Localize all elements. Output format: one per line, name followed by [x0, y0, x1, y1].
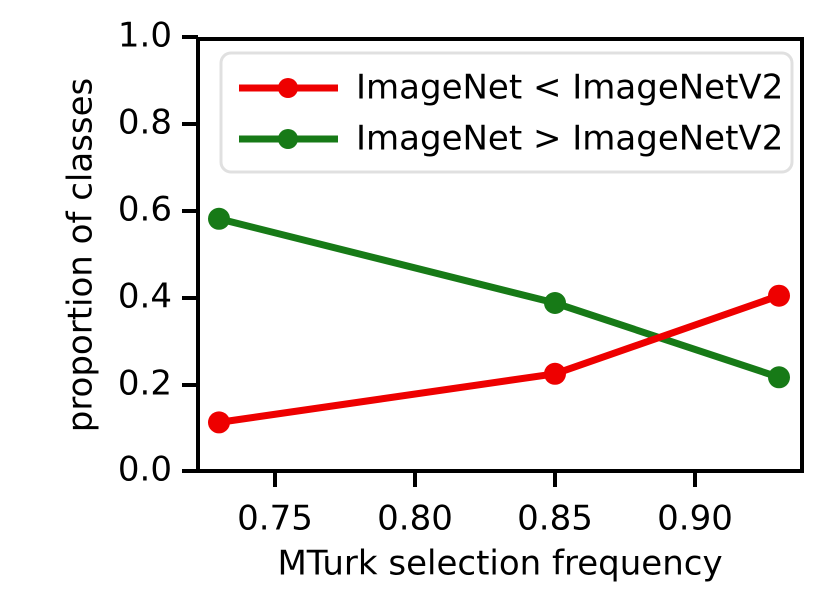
x-tick-label-0.80: 0.80 [377, 499, 453, 539]
y-axis-title: proportion of classes [61, 78, 101, 433]
x-tick-label-0.75: 0.75 [237, 499, 313, 539]
y-tick-label-0.2: 0.2 [118, 364, 172, 404]
legend-label-imagenet-less: ImageNet < ImageNetV2 [356, 68, 783, 108]
data-point-red-0 [208, 411, 230, 433]
y-tick-label-0.0: 0.0 [118, 450, 172, 490]
x-tick-marks [275, 471, 695, 487]
x-tick-labels: 0.75 0.80 0.85 0.90 [237, 499, 733, 539]
y-tick-label-0.4: 0.4 [118, 277, 172, 317]
legend-marker-red [278, 78, 298, 98]
legend-marker-green [278, 129, 298, 149]
y-tick-marks [182, 37, 198, 471]
y-tick-label-0.6: 0.6 [118, 190, 172, 230]
chart-figure: 1.0 0.8 0.6 0.4 0.2 0.0 0.75 0.80 0.85 0… [0, 0, 830, 602]
x-axis-title: MTurk selection frequency [277, 544, 722, 584]
chart-legend: ImageNet < ImageNetV2 ImageNet > ImageNe… [221, 53, 792, 172]
data-point-green-0 [208, 208, 230, 230]
y-tick-label-0.8: 0.8 [118, 103, 172, 143]
data-point-green-1 [544, 292, 566, 314]
data-point-red-2 [768, 285, 790, 307]
x-tick-label-0.90: 0.90 [657, 499, 733, 539]
legend-label-imagenet-greater: ImageNet > ImageNetV2 [356, 119, 783, 159]
line-chart: 1.0 0.8 0.6 0.4 0.2 0.0 0.75 0.80 0.85 0… [0, 0, 830, 602]
data-point-red-1 [544, 363, 566, 385]
y-tick-label-1.0: 1.0 [118, 16, 172, 56]
x-tick-label-0.85: 0.85 [517, 499, 593, 539]
y-tick-labels: 1.0 0.8 0.6 0.4 0.2 0.0 [118, 16, 172, 490]
data-point-green-2 [768, 366, 790, 388]
